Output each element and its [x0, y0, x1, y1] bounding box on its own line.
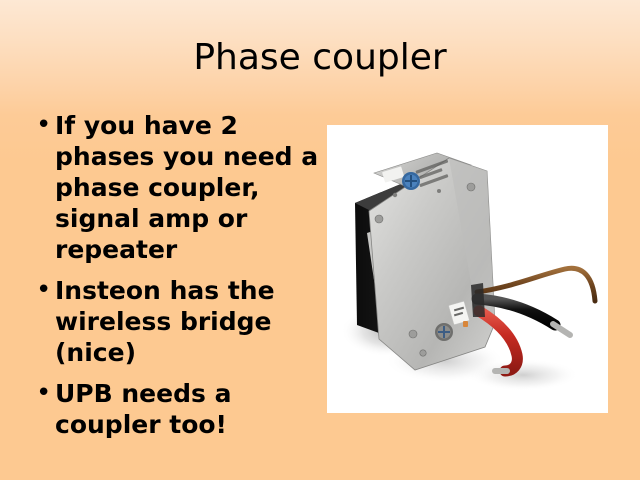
bullet-marker-icon: • — [31, 378, 55, 409]
picture-frame — [327, 125, 608, 413]
list-item: • Insteon has the wireless bridge (nice) — [31, 275, 319, 368]
list-item-text: UPB needs a coupler too! — [55, 378, 319, 440]
list-item: • If you have 2 phases you need a phase … — [31, 110, 319, 265]
phase-coupler-photo — [327, 125, 608, 413]
wire-shadow — [467, 359, 579, 391]
blue-screw-terminal — [402, 172, 420, 190]
slide: Phase coupler • If you have 2 phases you… — [0, 0, 640, 480]
page-title: Phase coupler — [0, 36, 640, 80]
bullet-list: • If you have 2 phases you need a phase … — [31, 110, 319, 440]
list-item-text: If you have 2 phases you need a phase co… — [55, 110, 319, 265]
orange-component — [463, 321, 468, 327]
bottom-screw-terminal — [435, 323, 453, 341]
bullet-marker-icon: • — [31, 275, 55, 306]
bullet-marker-icon: • — [31, 110, 55, 141]
wire-collar — [471, 283, 485, 317]
list-item-text: Insteon has the wireless bridge (nice) — [55, 275, 319, 368]
list-item: • UPB needs a coupler too! — [31, 378, 319, 440]
